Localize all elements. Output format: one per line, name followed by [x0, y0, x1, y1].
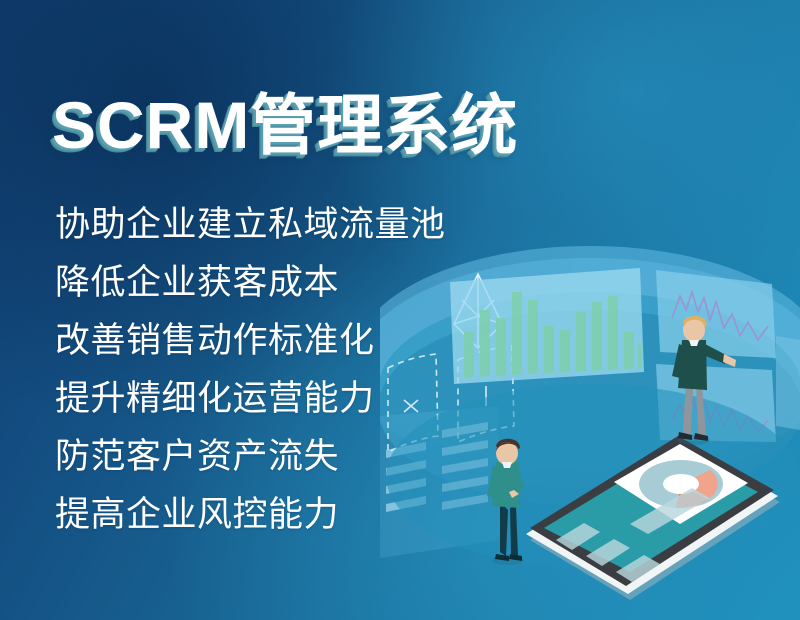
bar-chart-panel — [450, 268, 648, 384]
feature-item: 提升精细化运营能力 — [55, 370, 446, 428]
scrm-promo-banner: SCRM管理系统 协助企业建立私域流量池 降低企业获客成本 改善销售动作标准化 … — [0, 0, 800, 620]
feature-item: 协助企业建立私域流量池 — [55, 196, 446, 254]
feature-item: 提高企业风控能力 — [55, 486, 446, 544]
feature-item: 降低企业获客成本 — [55, 254, 446, 312]
page-title: SCRM管理系统 — [52, 92, 518, 158]
feature-list: 协助企业建立私域流量池 降低企业获客成本 改善销售动作标准化 提升精细化运营能力… — [55, 196, 446, 544]
feature-item: 改善销售动作标准化 — [55, 312, 446, 370]
feature-item: 防范客户资产流失 — [55, 428, 446, 486]
